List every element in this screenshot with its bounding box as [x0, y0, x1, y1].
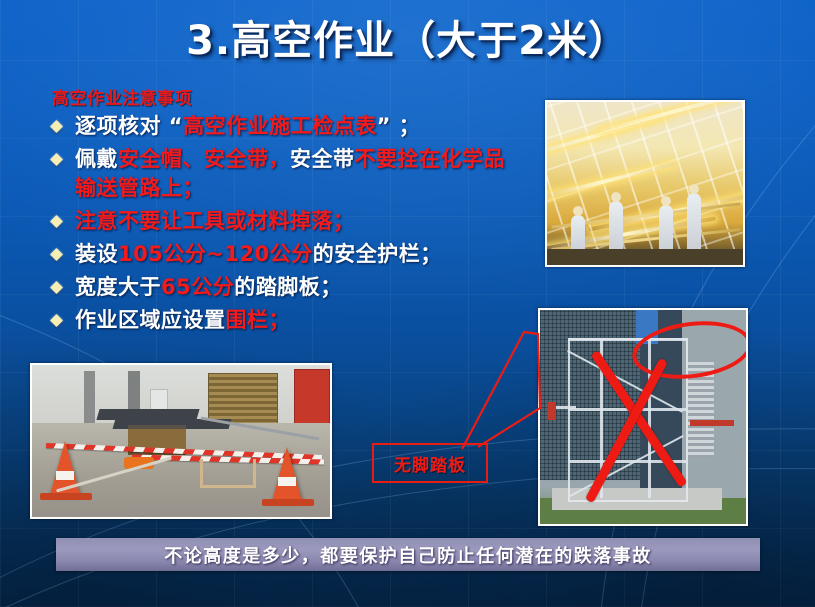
- photo-barrier-site: [30, 363, 332, 519]
- text-segment: 作业区域应设置: [75, 308, 226, 332]
- worker-figure: [687, 193, 701, 257]
- photo-scaffold-workers: [545, 100, 745, 267]
- bullet-list: 逐项核对 “高空作业施工检点表” ； 佩戴安全帽、安全带，安全带不要拴在化学品输…: [52, 112, 522, 339]
- scaffold-deck: [547, 249, 743, 265]
- diamond-bullet-icon: [50, 281, 63, 294]
- presentation-slide: 3.高空作业（大于2米） 高空作业注意事项 逐项核对 “高空作业施工检点表” ；…: [0, 0, 815, 607]
- callout-no-deck-label: 无脚踏板: [372, 443, 488, 483]
- list-item-text: 佩戴安全帽、安全带，安全带不要拴在化学品输送管路上；: [75, 145, 522, 203]
- red-barrier-tape: [690, 420, 734, 426]
- traffic-cone-base: [40, 493, 92, 500]
- text-segment: 65公分: [161, 275, 234, 299]
- photo-scaffold-nodeck: [538, 308, 748, 526]
- text-segment: 105公分~120公分: [118, 242, 313, 266]
- doorway: [84, 371, 95, 425]
- list-item: 注意不要让工具或材料掉落；: [52, 207, 522, 236]
- red-marker: [548, 402, 556, 420]
- list-item: 装设105公分~120公分的安全护栏；: [52, 240, 522, 269]
- text-segment: 的踏脚板；: [234, 275, 342, 299]
- bottom-banner: 不论高度是多少，都要保护自己防止任何潜在的跌落事故: [56, 538, 760, 571]
- text-segment: 安全帽、安全带，: [118, 147, 290, 171]
- diamond-bullet-icon: [50, 153, 63, 166]
- notes-heading: 高空作业注意事项: [52, 84, 192, 109]
- text-segment: 围栏；: [226, 308, 291, 332]
- text-segment: 逐项核对 “: [75, 114, 183, 138]
- bottom-banner-text: 不论高度是多少，都要保护自己防止任何潜在的跌落事故: [164, 542, 652, 568]
- list-item-text: 作业区域应设置围栏；: [75, 306, 522, 335]
- list-item: 佩戴安全帽、安全带，安全带不要拴在化学品输送管路上；: [52, 145, 522, 203]
- list-item-text: 注意不要让工具或材料掉落；: [75, 207, 522, 236]
- text-segment: 宽度大于: [75, 275, 161, 299]
- diamond-bullet-icon: [50, 215, 63, 228]
- diamond-bullet-icon: [50, 120, 63, 133]
- traffic-cone: [272, 447, 302, 501]
- text-segment: 装设: [75, 242, 118, 266]
- list-item: 宽度大于65公分的踏脚板；: [52, 273, 522, 302]
- text-segment: 佩戴: [75, 147, 118, 171]
- list-item-text: 逐项核对 “高空作业施工检点表” ；: [75, 112, 522, 141]
- text-segment: 高空作业施工检点表: [183, 114, 377, 138]
- diamond-bullet-icon: [50, 314, 63, 327]
- wooden-stand: [200, 459, 256, 488]
- traffic-cone-base: [262, 499, 314, 506]
- list-item-text: 装设105公分~120公分的安全护栏；: [75, 240, 522, 269]
- text-segment: 安全带: [290, 147, 355, 171]
- list-item-text: 宽度大于65公分的踏脚板；: [75, 273, 522, 302]
- slide-title: 3.高空作业（大于2米）: [0, 8, 815, 66]
- diamond-bullet-icon: [50, 248, 63, 261]
- list-item: 作业区域应设置围栏；: [52, 306, 522, 335]
- text-segment: 的安全护栏；: [313, 242, 442, 266]
- list-item: 逐项核对 “高空作业施工检点表” ；: [52, 112, 522, 141]
- text-segment: 注意不要让工具或材料掉落；: [75, 209, 355, 233]
- text-segment: ” ；: [377, 114, 421, 138]
